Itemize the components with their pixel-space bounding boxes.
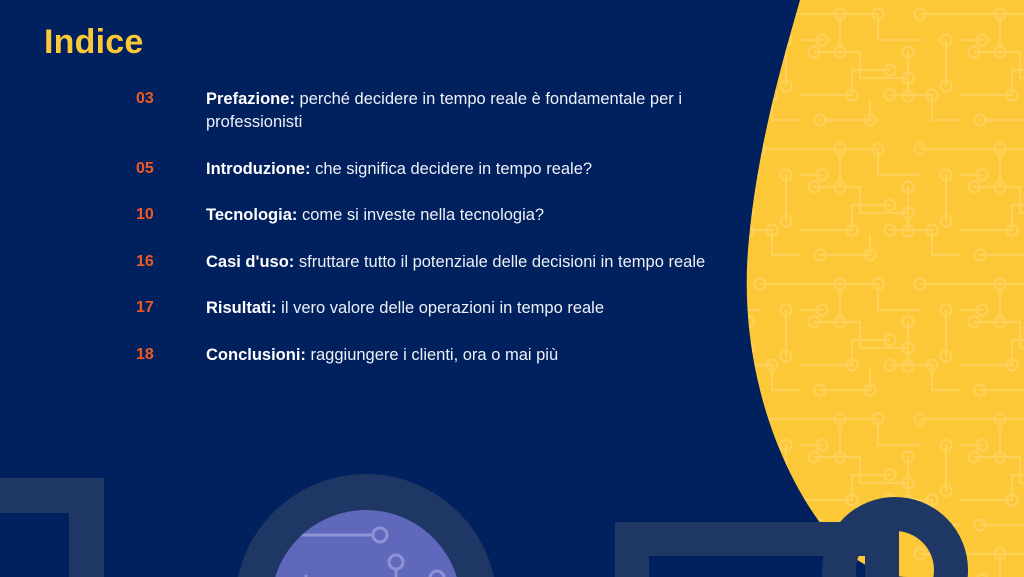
toc-entry-page-number: 10 xyxy=(44,204,206,227)
toc-entry-text: Introduzione: che significa decidere in … xyxy=(206,158,754,181)
toc-entry-page-number: 16 xyxy=(44,251,206,274)
toc-entry-text: Casi d'uso: sfruttare tutto il potenzial… xyxy=(206,251,754,274)
toc-entry[interactable]: 03Prefazione: perché decidere in tempo r… xyxy=(44,88,754,135)
toc-entry-description: raggiungere i clienti, ora o mai più xyxy=(306,346,558,364)
toc-entry-heading: Tecnologia: xyxy=(206,206,297,224)
toc-entry[interactable]: 18Conclusioni: raggiungere i clienti, or… xyxy=(44,344,754,367)
toc-entry-text: Tecnologia: come si investe nella tecnol… xyxy=(206,204,754,227)
toc-entry-text: Risultati: il vero valore delle operazio… xyxy=(206,297,754,320)
toc-entry-heading: Prefazione: xyxy=(206,90,295,108)
toc-entry-description: il vero valore delle operazioni in tempo… xyxy=(277,299,604,317)
toc-entry-description: sfruttare tutto il potenziale delle deci… xyxy=(294,253,705,271)
table-of-contents: 03Prefazione: perché decidere in tempo r… xyxy=(44,88,754,367)
toc-entry-page-number: 18 xyxy=(44,344,206,367)
toc-entry[interactable]: 10Tecnologia: come si investe nella tecn… xyxy=(44,204,754,227)
slide-canvas: Indice 03Prefazione: perché decidere in … xyxy=(0,0,1024,577)
toc-entry[interactable]: 05Introduzione: che significa decidere i… xyxy=(44,158,754,181)
toc-entry-text: Prefazione: perché decidere in tempo rea… xyxy=(206,88,754,135)
toc-entry[interactable]: 16Casi d'uso: sfruttare tutto il potenzi… xyxy=(44,251,754,274)
toc-entry-heading: Risultati: xyxy=(206,299,277,317)
toc-entry-description: che significa decidere in tempo reale? xyxy=(310,160,592,178)
slide-content: Indice 03Prefazione: perché decidere in … xyxy=(0,0,770,577)
toc-entry-page-number: 03 xyxy=(44,88,206,111)
toc-entry-page-number: 17 xyxy=(44,297,206,320)
toc-entry-heading: Introduzione: xyxy=(206,160,310,178)
page-title: Indice xyxy=(44,24,143,61)
toc-entry-heading: Casi d'uso: xyxy=(206,253,294,271)
toc-entry-page-number: 05 xyxy=(44,158,206,181)
toc-entry-text: Conclusioni: raggiungere i clienti, ora … xyxy=(206,344,754,367)
toc-entry-description: come si investe nella tecnologia? xyxy=(297,206,544,224)
toc-entry[interactable]: 17Risultati: il vero valore delle operaz… xyxy=(44,297,754,320)
toc-entry-heading: Conclusioni: xyxy=(206,346,306,364)
